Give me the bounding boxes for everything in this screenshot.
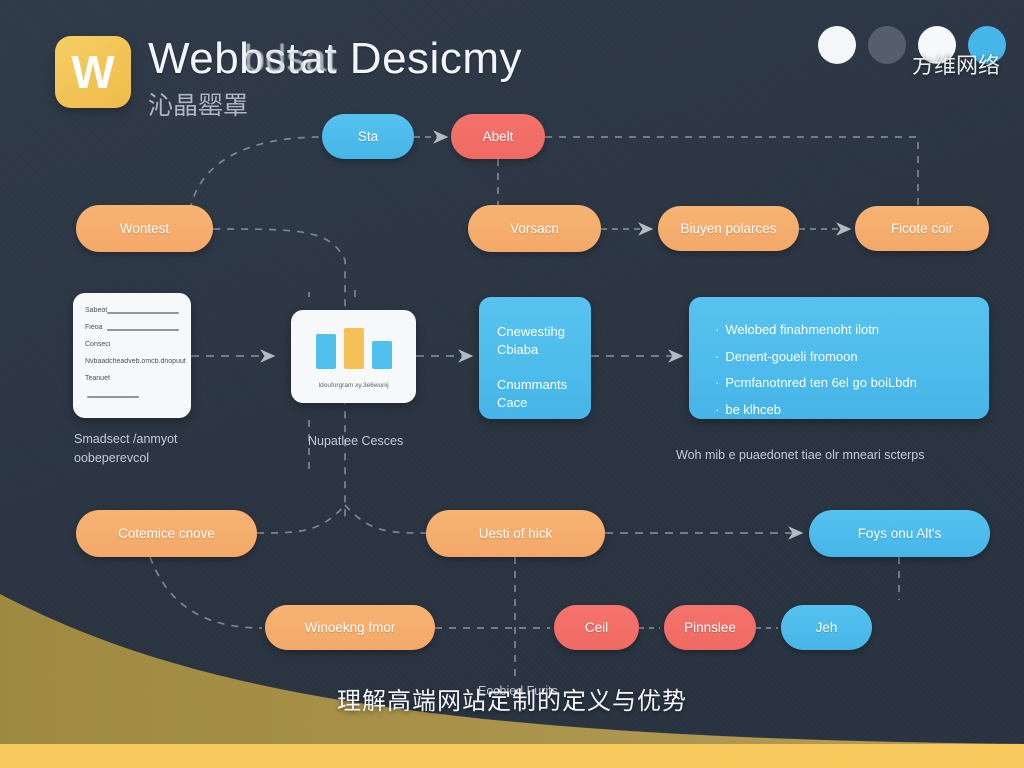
document-line-text: Fieoa bbox=[85, 324, 103, 331]
flow-node-desti-of-hick[interactable]: Uesti of hick bbox=[426, 510, 605, 557]
flow-node-foys-onu-alrs[interactable]: Foys onu Alt's bbox=[809, 510, 990, 557]
flow-node-vorsacn[interactable]: Vorsacn bbox=[468, 205, 601, 252]
dot-gray bbox=[868, 26, 906, 64]
blue-info-panel[interactable]: CnewestihgCbiabaCnummantsCace bbox=[479, 297, 591, 419]
blue-panel-line: Cbiaba bbox=[497, 341, 591, 359]
flow-node-label: Wontest bbox=[120, 221, 169, 236]
document-line-text: Teanuef bbox=[85, 375, 110, 382]
flow-node-label: Sta bbox=[358, 129, 378, 144]
flow-node-label: Vorsacn bbox=[510, 221, 559, 236]
chart-bar bbox=[316, 334, 336, 369]
bottom-swoosh bbox=[0, 568, 1024, 768]
document-card[interactable]: SabeotFieoaConseciNvbaadcheadveb.omcb.dn… bbox=[73, 293, 191, 418]
flow-node-cotemize-cnove[interactable]: Cotemice cnove bbox=[76, 510, 257, 557]
bullet-label: be klhceb bbox=[725, 401, 781, 419]
document-rule bbox=[107, 312, 179, 314]
slide-canvas: W Webbstat Desicmy bdsat 沁晶罂罩 方维网络 StaAb… bbox=[0, 0, 1024, 768]
brand-watermark: 方维网络 bbox=[912, 48, 1000, 80]
bullet-label: Pcmfanotnred ten 6el go boiLbdn bbox=[725, 374, 917, 392]
bullet-item: ·Welobed finahmenoht ilotn bbox=[715, 321, 989, 339]
slide-caption: 理解高端网站定制的定义与优势 bbox=[0, 681, 1024, 716]
chart-caption: Idouforgram xy.3e6wunij bbox=[291, 382, 416, 389]
document-rule bbox=[87, 396, 139, 398]
page-subtitle: 沁晶罂罩 bbox=[148, 86, 708, 122]
blue-panel-line: Cnummants bbox=[497, 376, 591, 394]
page-title-ghost: bdsat bbox=[244, 38, 337, 81]
bullet-dot-icon: · bbox=[715, 374, 719, 392]
caption-line: Woh mib e puaedonet tiae olr mneari scte… bbox=[676, 446, 925, 465]
flow-node-ficote-coir[interactable]: Ficote coir bbox=[855, 206, 989, 251]
logo-letter: W bbox=[71, 49, 114, 95]
logo-badge: W bbox=[55, 36, 131, 108]
document-line-text: Nvbaadcheadveb.omcb.dnopuut bbox=[85, 358, 186, 365]
flow-node-start[interactable]: Sta bbox=[322, 114, 414, 159]
flow-node-workest[interactable]: Wontest bbox=[76, 205, 213, 252]
caption-line: Nupatlee Cesces bbox=[308, 432, 403, 451]
document-line-text: Conseci bbox=[85, 341, 110, 348]
bullet-label: Welobed finahmenoht ilotn bbox=[725, 321, 879, 339]
caption-document: Smadsect /anmyotoobeperevcol bbox=[74, 430, 178, 468]
bullet-dot-icon: · bbox=[715, 321, 719, 339]
blue-bullet-panel[interactable]: ·Welobed finahmenoht ilotn·Denent-goueli… bbox=[689, 297, 989, 419]
caption-chart: Nupatlee Cesces bbox=[308, 432, 403, 451]
flow-node-label: Cotemice cnove bbox=[118, 526, 215, 541]
bullet-label: Denent-goueli fromoon bbox=[725, 348, 857, 366]
chart-bar bbox=[372, 341, 392, 369]
document-rule bbox=[107, 329, 179, 331]
bar-chart-card[interactable]: Idouforgram xy.3e6wunij bbox=[291, 310, 416, 403]
bullet-item: ·Denent-goueli fromoon bbox=[715, 348, 989, 366]
caption-line: oobeperevcol bbox=[74, 449, 178, 468]
bullet-item: ·be klhceb bbox=[715, 401, 989, 419]
dot-white-1 bbox=[818, 26, 856, 64]
flow-node-label: Biuyen polarces bbox=[680, 221, 776, 236]
bullet-dot-icon: · bbox=[715, 348, 719, 366]
bullet-item: ·Pcmfanotnred ten 6el go boiLbdn bbox=[715, 374, 989, 392]
blue-panel-block-2: CnummantsCace bbox=[497, 376, 591, 411]
blue-panel-line: Cnewestihg bbox=[497, 323, 591, 341]
caption-line: Smadsect /anmyot bbox=[74, 430, 178, 449]
flow-node-buyer-polarces[interactable]: Biuyen polarces bbox=[658, 206, 799, 251]
flow-node-label: Uesti of hick bbox=[479, 526, 553, 541]
flow-node-alert[interactable]: Abelt bbox=[451, 114, 545, 159]
bullet-dot-icon: · bbox=[715, 401, 719, 419]
chart-bar bbox=[344, 328, 364, 369]
blue-panel-line: Cace bbox=[497, 394, 591, 412]
title-block: Webbstat Desicmy bdsat 沁晶罂罩 bbox=[148, 36, 708, 122]
caption-panel: Woh mib e puaedonet tiae olr mneari scte… bbox=[676, 446, 925, 465]
blue-panel-block-1: CnewestihgCbiaba bbox=[497, 323, 591, 358]
page-title: Webbstat Desicmy bbox=[148, 36, 708, 82]
flow-node-label: Abelt bbox=[483, 129, 514, 144]
flow-node-label: Ficote coir bbox=[891, 221, 953, 236]
document-line-text: Sabeot bbox=[85, 307, 107, 314]
flow-node-label: Foys onu Alt's bbox=[858, 526, 942, 541]
